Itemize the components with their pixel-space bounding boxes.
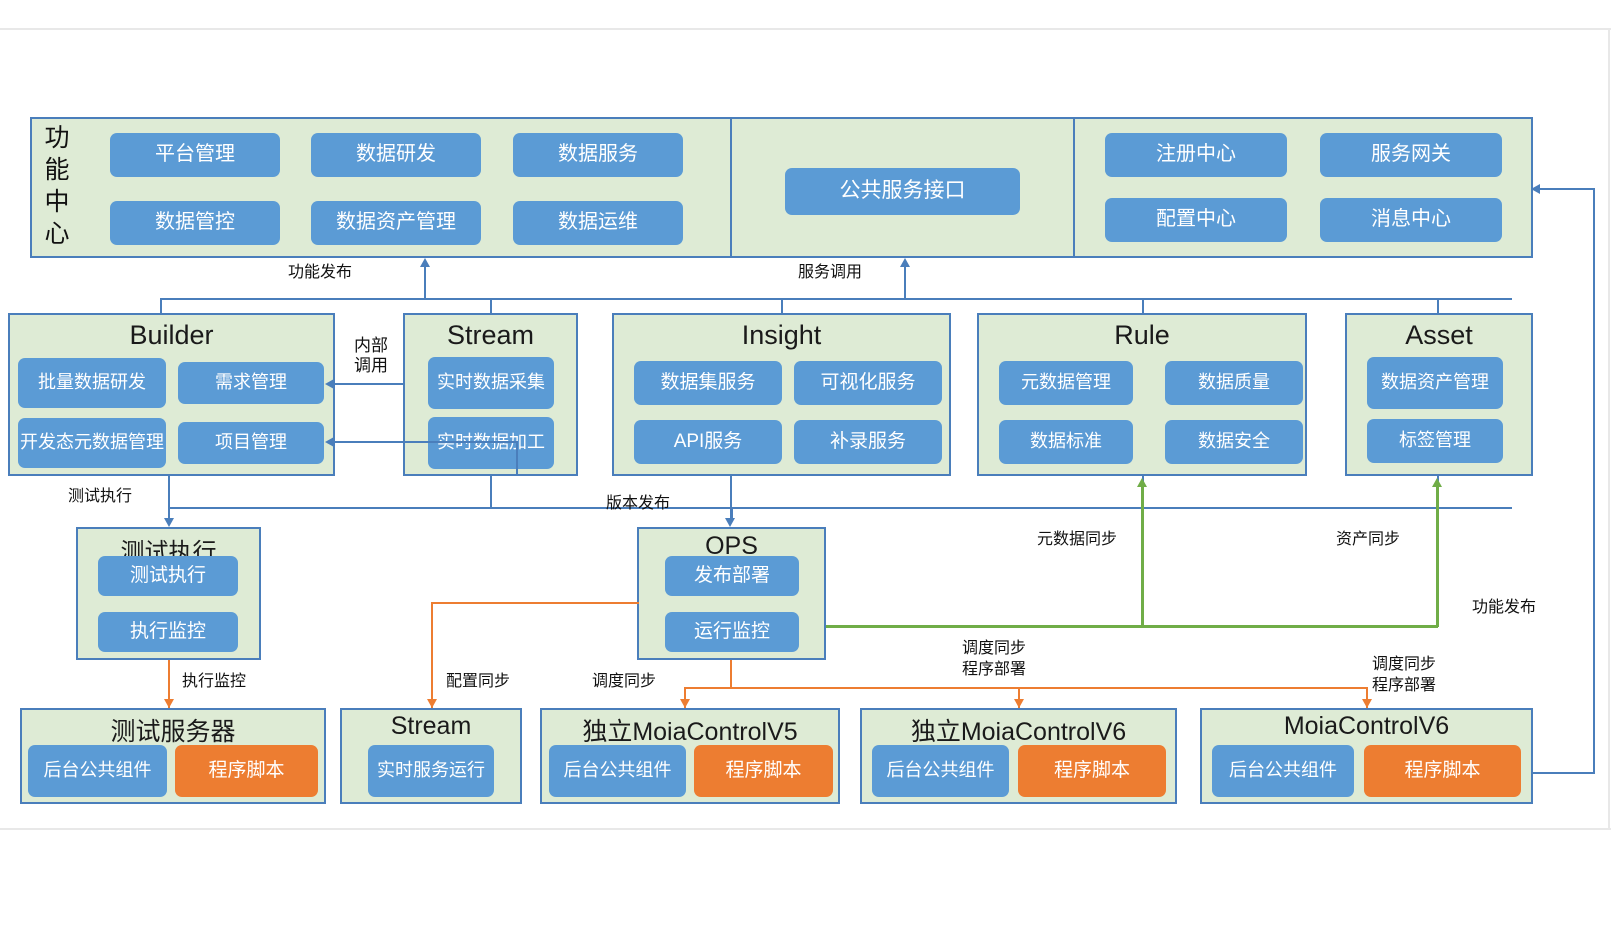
edge-label-test-exec: 测试执行 (68, 487, 132, 507)
module-stream-title: Stream (405, 320, 576, 351)
edge-label-config-sync: 配置同步 (446, 672, 510, 692)
server-moiacontrolv6-plain-title: MoiaControlV6 (1202, 712, 1531, 741)
chip-data-service[interactable]: 数据服务 (513, 133, 683, 177)
edge-insight-up (781, 298, 783, 315)
edge-schedule-sync-v6-arrow (1014, 699, 1024, 708)
edge-label-feature-publish-right: 功能发布 (1472, 598, 1536, 618)
edge-internal-call-arrow-top (325, 379, 334, 389)
chip-data-ops[interactable]: 数据运维 (513, 201, 683, 245)
edge-internal-call-riser-right (516, 441, 518, 476)
band-divider-2 (1073, 119, 1075, 256)
edge-right-rail-top (1540, 188, 1595, 190)
chip-service-gateway[interactable]: 服务网关 (1320, 133, 1502, 177)
server-test-server-title: 测试服务器 (22, 712, 324, 748)
edge-feature-publish-riser (424, 266, 426, 299)
edge-asset-sync-arrow (1432, 478, 1442, 487)
edge-insight-down (730, 476, 732, 508)
edge-label-service-call: 服务调用 (798, 263, 862, 283)
module-asset-title: Asset (1347, 320, 1531, 351)
edge-bus-feature-publish (160, 298, 1512, 300)
chip-data-standard[interactable]: 数据标准 (999, 420, 1133, 464)
edge-builder-up (160, 298, 162, 315)
edge-internal-call-top (333, 383, 405, 385)
edge-label-exec-monitor: 执行监控 (182, 672, 246, 692)
page-rule-bottom (0, 828, 1611, 830)
chip-runtime-monitor[interactable]: 运行监控 (665, 612, 799, 652)
edge-internal-call-bottom (333, 441, 518, 443)
chip-batch-data-dev[interactable]: 批量数据研发 (18, 358, 166, 408)
chip-realtime-service-run[interactable]: 实时服务运行 (368, 745, 494, 797)
edge-label-metadata-sync: 元数据同步 (1037, 530, 1117, 550)
chip-program-script-1[interactable]: 程序脚本 (175, 745, 318, 797)
chip-program-script-4[interactable]: 程序脚本 (1364, 745, 1521, 797)
chip-message-center[interactable]: 消息中心 (1320, 198, 1502, 242)
chip-backend-common-1[interactable]: 后台公共组件 (28, 745, 167, 797)
edge-schedule-sync-v6b-arrow (1362, 699, 1372, 708)
edge-builder-down (168, 476, 170, 508)
edge-config-sync-arrow (427, 699, 437, 708)
chip-realtime-collect[interactable]: 实时数据采集 (428, 357, 554, 409)
chip-test-exec[interactable]: 测试执行 (98, 556, 238, 596)
edge-service-call-riser (904, 266, 906, 299)
edge-bus-lower (168, 507, 1512, 509)
edge-asset-up (1437, 298, 1439, 315)
edge-internal-call-trunk (403, 383, 405, 443)
module-builder-title: Builder (10, 320, 333, 351)
function-center-label-4: 心 (40, 221, 74, 248)
server-stream-title: Stream (342, 712, 520, 741)
chip-backend-common-2[interactable]: 后台公共组件 (549, 745, 686, 797)
function-center-label-2: 能 (40, 157, 74, 184)
edge-config-sync-v (431, 602, 433, 708)
chip-metadata-mgmt[interactable]: 元数据管理 (999, 361, 1133, 405)
chip-registry-center[interactable]: 注册中心 (1105, 133, 1287, 177)
edge-service-call-arrow (900, 258, 910, 267)
edge-label-version-publish: 版本发布 (606, 494, 670, 514)
page-rule-top (0, 28, 1611, 30)
edge-metadata-sync-arrow (1137, 478, 1147, 487)
chip-data-asset-mgmt[interactable]: 数据资产管理 (1367, 357, 1503, 409)
chip-data-asset-admin[interactable]: 数据资产管理 (311, 201, 481, 245)
chip-supplement-service[interactable]: 补录服务 (794, 420, 942, 464)
edge-label-schedule-deploy-right: 调度同步程序部署 (1372, 655, 1436, 697)
edge-stream-up (490, 298, 492, 315)
chip-dataset-service[interactable]: 数据集服务 (634, 361, 782, 405)
architecture-diagram: 功 能 中 心 平台管理 数据研发 数据服务 数据管控 数据资产管理 数据运维 … (0, 0, 1611, 940)
chip-api-service[interactable]: API服务 (634, 420, 782, 464)
function-center-label: 功 (40, 125, 74, 152)
chip-program-script-3[interactable]: 程序脚本 (1018, 745, 1166, 797)
edge-label-asset-sync: 资产同步 (1336, 530, 1400, 550)
edge-ops-down (730, 660, 732, 688)
edge-right-rail-v (1593, 188, 1595, 774)
edge-rule-up (1142, 298, 1144, 315)
chip-visualization-service[interactable]: 可视化服务 (794, 361, 942, 405)
chip-exec-monitor[interactable]: 执行监控 (98, 612, 238, 652)
edge-metadata-sync-h (826, 625, 1144, 628)
chip-config-center[interactable]: 配置中心 (1105, 198, 1287, 242)
chip-platform-admin[interactable]: 平台管理 (110, 133, 280, 177)
edge-feature-publish-arrow (420, 258, 430, 267)
chip-backend-common-4[interactable]: 后台公共组件 (1212, 745, 1354, 797)
edge-asset-sync-v (1436, 487, 1439, 627)
edge-exec-monitor-arrow (164, 699, 174, 708)
edge-metadata-sync-v (1141, 487, 1144, 627)
chip-data-governance[interactable]: 数据管控 (110, 201, 280, 245)
edge-asset-sync-h (1141, 625, 1438, 628)
edge-label-internal-call: 内部调用 (340, 336, 402, 377)
edge-config-sync-h (431, 602, 639, 604)
chip-realtime-process[interactable]: 实时数据加工 (428, 417, 554, 469)
chip-release-deploy[interactable]: 发布部署 (665, 556, 799, 596)
edge-label-schedule-sync: 调度同步 (592, 672, 656, 692)
chip-public-service-api[interactable]: 公共服务接口 (785, 168, 1020, 215)
module-rule-title: Rule (979, 320, 1305, 351)
edge-version-publish-arrow (725, 518, 735, 527)
chip-data-quality[interactable]: 数据质量 (1165, 361, 1303, 405)
band-divider-1 (730, 119, 732, 256)
chip-data-dev[interactable]: 数据研发 (311, 133, 481, 177)
chip-project-mgmt[interactable]: 项目管理 (178, 422, 324, 464)
edge-label-feature-publish: 功能发布 (288, 263, 352, 283)
chip-data-security[interactable]: 数据安全 (1165, 420, 1303, 464)
edge-label-schedule-deploy-mid: 调度同步程序部署 (962, 639, 1026, 681)
edge-schedule-sync-v5-arrow (680, 699, 690, 708)
chip-backend-common-3[interactable]: 后台公共组件 (872, 745, 1009, 797)
server-moiacontrolv6-title: 独立MoiaControlV6 (862, 712, 1175, 748)
edge-stream-down (490, 476, 492, 508)
edge-right-rail-arrow (1531, 184, 1540, 194)
page-rule-right (1608, 28, 1610, 828)
chip-requirement-mgmt[interactable]: 需求管理 (178, 362, 324, 404)
module-insight-title: Insight (614, 320, 949, 351)
edge-right-rail-bottom (1533, 772, 1595, 774)
function-center-label-3: 中 (40, 189, 74, 216)
edge-test-exec-drop (168, 507, 170, 521)
chip-tag-mgmt[interactable]: 标签管理 (1367, 419, 1503, 463)
edge-internal-call-arrow-bottom (325, 437, 334, 447)
chip-program-script-2[interactable]: 程序脚本 (694, 745, 833, 797)
chip-dev-metadata-mgmt[interactable]: 开发态元数据管理 (18, 418, 166, 468)
edge-schedule-bus (684, 687, 1368, 689)
server-moiacontrolv5-title: 独立MoiaControlV5 (542, 712, 838, 748)
